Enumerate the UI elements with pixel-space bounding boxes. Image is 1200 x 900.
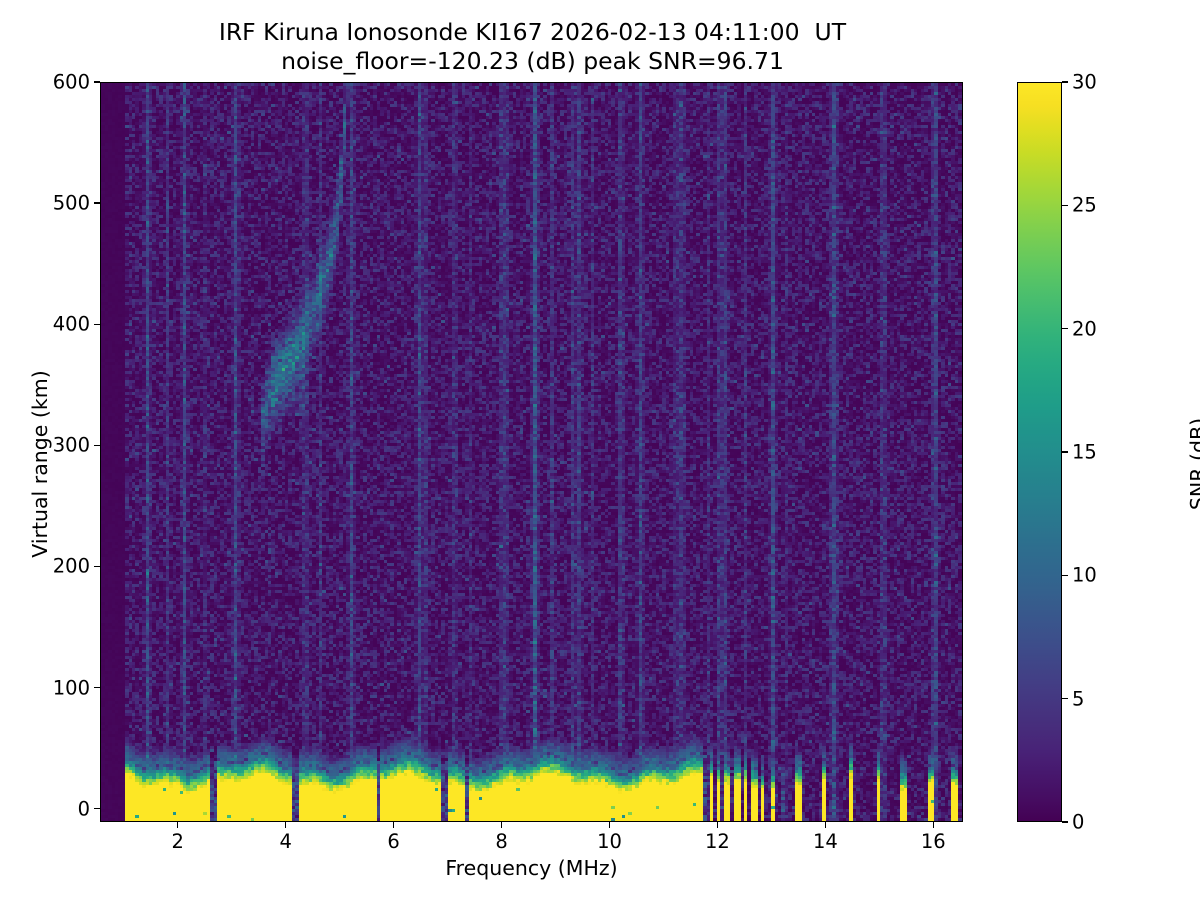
colorbar-gradient (1018, 83, 1061, 821)
x-tick-mark (285, 822, 286, 828)
colorbar-tick-mark (1062, 451, 1068, 452)
x-tick-label: 8 (495, 830, 507, 853)
x-tick-label: 16 (921, 830, 946, 853)
ionogram-heatmap-canvas (101, 83, 963, 822)
colorbar-tick-label: 25 (1072, 194, 1097, 217)
colorbar-tick-mark (1062, 81, 1068, 82)
colorbar-tick-label: 5 (1072, 687, 1084, 710)
y-tick-mark (94, 808, 100, 809)
title-line-1: IRF Kiruna Ionosonde KI167 2026-02-13 04… (0, 18, 1065, 47)
y-tick-mark (94, 202, 100, 203)
colorbar-tick-label: 10 (1072, 564, 1097, 587)
y-tick-mark (94, 687, 100, 688)
title-line-2: noise_floor=-120.23 (dB) peak SNR=96.71 (0, 47, 1065, 76)
x-tick-mark (609, 822, 610, 828)
colorbar-tick-label: 15 (1072, 441, 1097, 464)
figure-title: IRF Kiruna Ionosonde KI167 2026-02-13 04… (0, 18, 1065, 75)
ionogram-plot-area[interactable] (100, 82, 963, 822)
y-tick-mark (94, 445, 100, 446)
x-tick-label: 12 (705, 830, 730, 853)
colorbar (1017, 82, 1062, 822)
x-tick-mark (393, 822, 394, 828)
x-tick-label: 10 (597, 830, 622, 853)
colorbar-tick-mark (1062, 328, 1068, 329)
x-axis-title: Frequency (MHz) (100, 856, 963, 880)
y-tick-label: 500 (10, 192, 90, 215)
colorbar-tick-mark (1062, 821, 1068, 822)
x-tick-mark (501, 822, 502, 828)
x-tick-label: 2 (171, 830, 183, 853)
y-tick-mark (94, 566, 100, 567)
y-tick-label: 0 (10, 797, 90, 820)
colorbar-title: SNR (dB) (1186, 304, 1200, 624)
x-tick-mark (825, 822, 826, 828)
colorbar-tick-label: 20 (1072, 317, 1097, 340)
x-tick-label: 14 (813, 830, 838, 853)
x-tick-label: 4 (279, 830, 291, 853)
ionogram-figure: IRF Kiruna Ionosonde KI167 2026-02-13 04… (0, 0, 1200, 900)
colorbar-tick-label: 30 (1072, 71, 1097, 94)
y-tick-label: 600 (10, 71, 90, 94)
y-tick-label: 100 (10, 676, 90, 699)
x-tick-label: 6 (387, 830, 399, 853)
colorbar-tick-label: 0 (1072, 811, 1084, 834)
colorbar-tick-mark (1062, 698, 1068, 699)
x-tick-mark (717, 822, 718, 828)
y-tick-mark (94, 324, 100, 325)
y-axis-title: Virtual range (km) (28, 304, 52, 624)
x-tick-mark (177, 822, 178, 828)
x-tick-mark (933, 822, 934, 828)
colorbar-tick-mark (1062, 575, 1068, 576)
y-tick-mark (94, 81, 100, 82)
colorbar-tick-mark (1062, 205, 1068, 206)
